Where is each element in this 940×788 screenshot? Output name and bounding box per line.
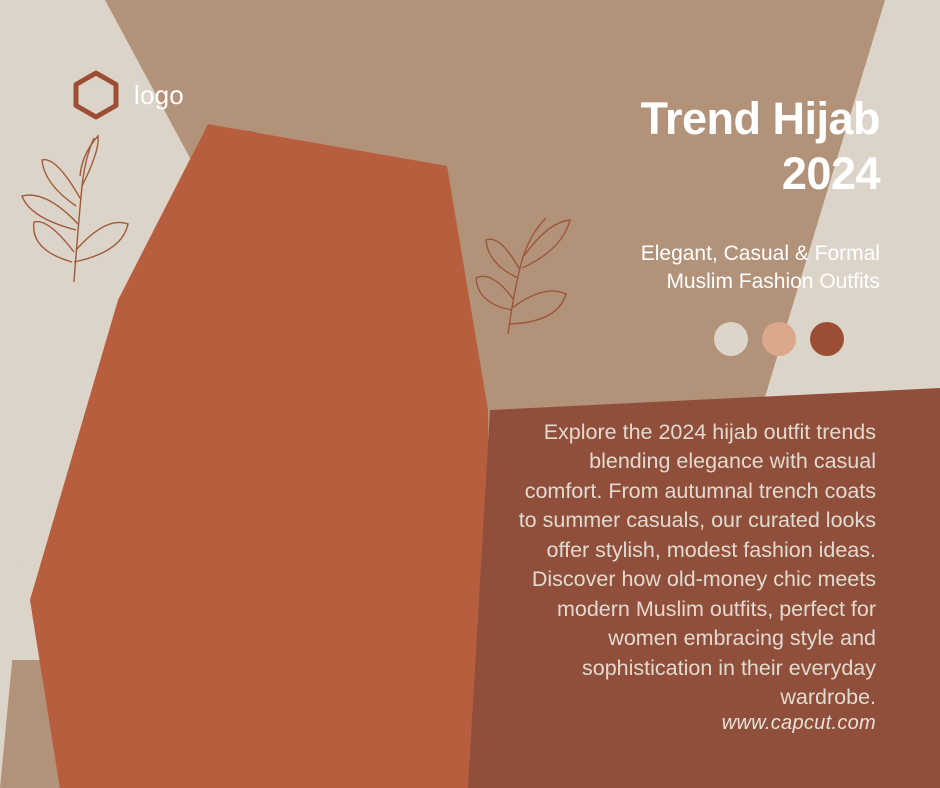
body-paragraph: Explore the 2024 hijab outfit trends ble… bbox=[508, 418, 876, 713]
subheadline-line-1: Elegant, Casual & Formal bbox=[540, 240, 880, 268]
swatch-cream bbox=[714, 322, 748, 356]
page-title: Trend Hijab 2024 bbox=[560, 92, 880, 202]
logo-text: logo bbox=[134, 82, 184, 108]
color-swatch-group bbox=[714, 322, 844, 356]
subheadline-line-2: Muslim Fashion Outfits bbox=[540, 268, 880, 296]
headline-line-2: 2024 bbox=[560, 147, 880, 202]
subheadline: Elegant, Casual & Formal Muslim Fashion … bbox=[540, 240, 880, 295]
logo[interactable]: logo bbox=[72, 70, 184, 120]
swatch-rust bbox=[810, 322, 844, 356]
cream-shape-top-right bbox=[680, 0, 940, 430]
hexagon-logo-icon bbox=[72, 70, 120, 120]
website-url[interactable]: www.capcut.com bbox=[508, 712, 876, 735]
poster-canvas: logo Trend Hijab 2024 Elegant, Casual & … bbox=[0, 0, 940, 788]
swatch-tan bbox=[762, 322, 796, 356]
leaf-decoration-left bbox=[12, 132, 162, 284]
headline-line-1: Trend Hijab bbox=[560, 92, 880, 147]
